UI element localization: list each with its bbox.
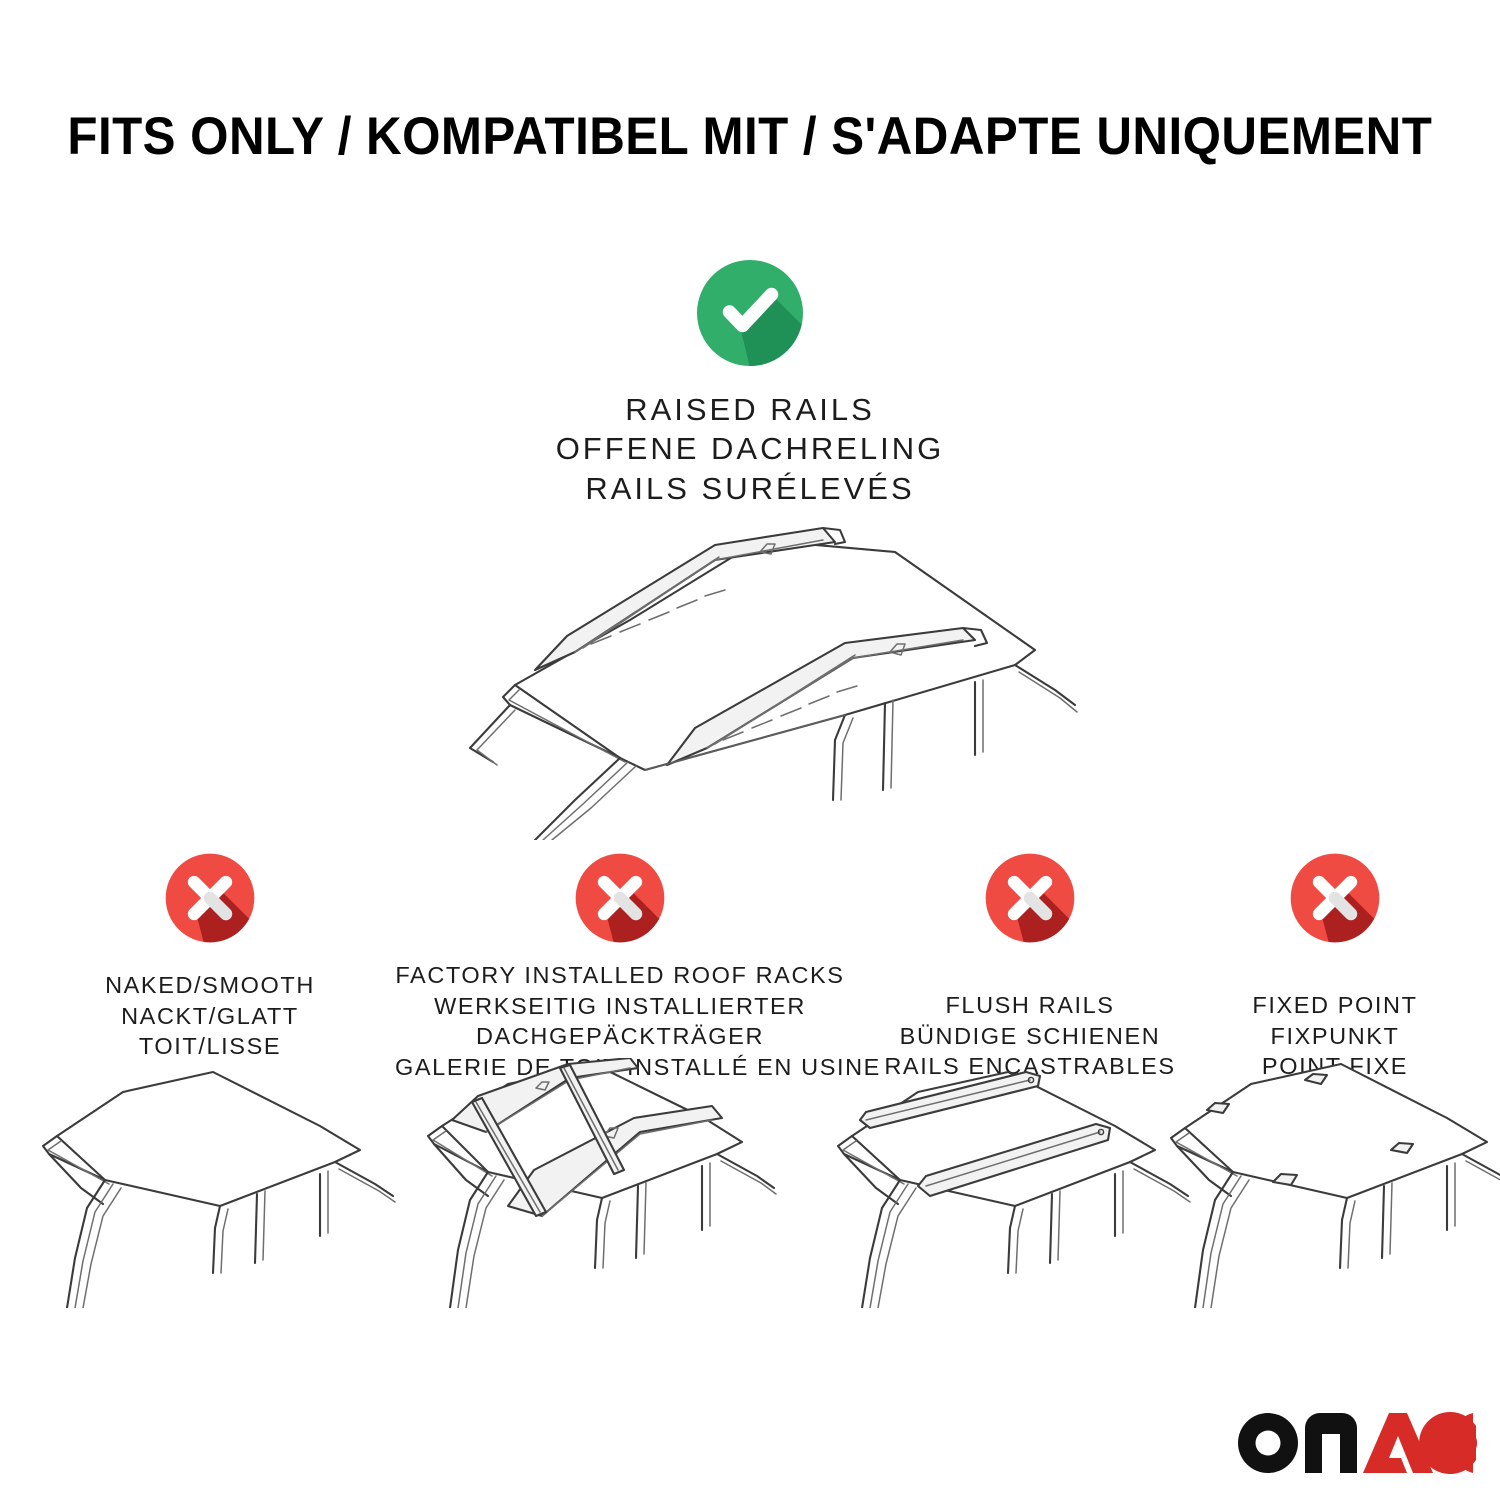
incompatible-labels: NAKED/SMOOTH NACKT/GLATT TOIT/LISSE bbox=[55, 970, 365, 1062]
cross-circle-icon bbox=[1289, 852, 1381, 944]
raised-rails-roof-illustration bbox=[415, 500, 1095, 840]
incompatible-item-factory-roof-racks: FACTORY INSTALLED ROOF RACKS WERKSEITIG … bbox=[395, 852, 845, 1082]
check-badge-container bbox=[0, 258, 1500, 368]
omac-logo bbox=[1237, 1412, 1477, 1474]
cross-circle-icon bbox=[574, 852, 666, 944]
incompatible-label-de: NACKT/GLATT bbox=[55, 1001, 365, 1032]
check-circle-icon bbox=[695, 258, 805, 368]
factory-roof-rack-illustration bbox=[412, 1058, 782, 1308]
cross-badge-container bbox=[865, 852, 1195, 944]
flush-rails-roof-illustration bbox=[830, 1058, 1200, 1308]
incompatible-label-de: FIXPUNKT bbox=[1200, 1021, 1470, 1052]
compatible-label-en: RAISED RAILS bbox=[0, 390, 1500, 429]
naked-smooth-roof-illustration bbox=[35, 1058, 405, 1308]
page-title: FITS ONLY / KOMPATIBEL MIT / S'ADAPTE UN… bbox=[68, 106, 1433, 167]
fixed-point-roof-illustration bbox=[1155, 1058, 1500, 1308]
incompatible-label-en: FIXED POINT bbox=[1200, 990, 1470, 1021]
incompatible-label-de-1: WERKSEITIG INSTALLIERTER bbox=[395, 991, 845, 1022]
compatible-labels: RAISED RAILS OFFENE DACHRELING RAILS SUR… bbox=[0, 390, 1500, 508]
incompatible-label-en: NAKED/SMOOTH bbox=[55, 970, 365, 1001]
incompatible-item-naked-smooth: NAKED/SMOOTH NACKT/GLATT TOIT/LISSE bbox=[55, 852, 365, 1062]
cross-circle-icon bbox=[164, 852, 256, 944]
roof-illustration-row bbox=[0, 1058, 1500, 1308]
cross-badge-container bbox=[55, 852, 365, 944]
incompatible-label-de: BÜNDIGE SCHIENEN bbox=[865, 1021, 1195, 1052]
cross-badge-container bbox=[395, 852, 845, 944]
compatible-label-de: OFFENE DACHRELING bbox=[0, 429, 1500, 468]
incompatible-label-en: FACTORY INSTALLED ROOF RACKS bbox=[395, 960, 845, 991]
cross-badge-container bbox=[1200, 852, 1470, 944]
incompatible-item-fixed-point: FIXED POINT FIXPUNKT POINT FIXE bbox=[1200, 852, 1470, 1082]
compatible-section: RAISED RAILS OFFENE DACHRELING RAILS SUR… bbox=[0, 258, 1500, 508]
incompatible-item-flush-rails: FLUSH RAILS BÜNDIGE SCHIENEN RAILS ENCAS… bbox=[865, 852, 1195, 1082]
incompatible-label-de-2: DACHGEPÄCKTRÄGER bbox=[395, 1021, 845, 1052]
page-header: FITS ONLY / KOMPATIBEL MIT / S'ADAPTE UN… bbox=[0, 106, 1500, 167]
cross-circle-icon bbox=[984, 852, 1076, 944]
incompatible-label-en: FLUSH RAILS bbox=[865, 990, 1195, 1021]
